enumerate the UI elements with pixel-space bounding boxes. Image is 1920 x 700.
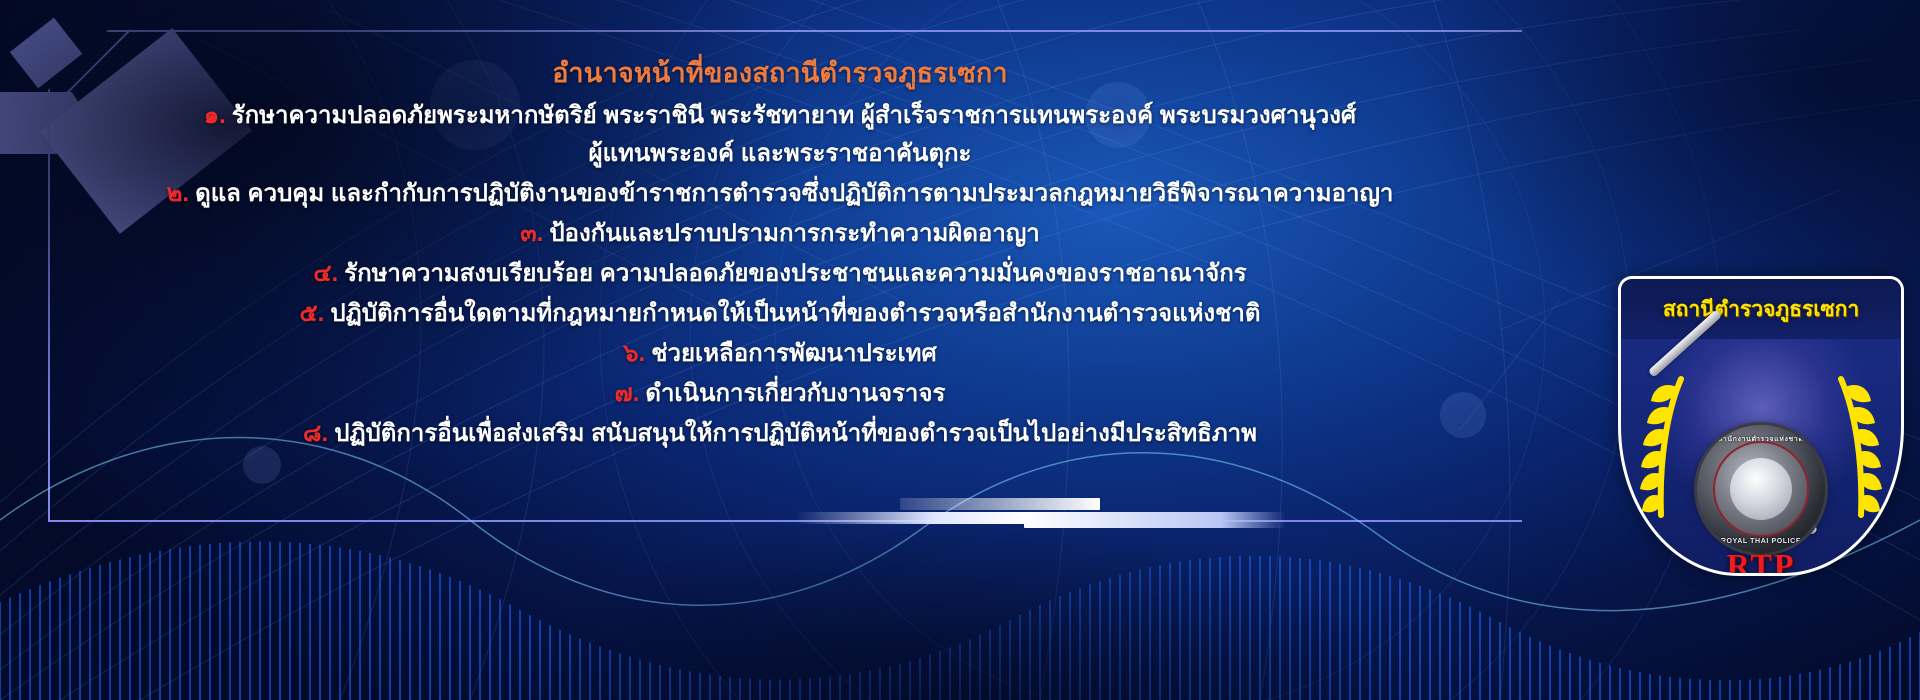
list-marker: ๕. — [300, 300, 325, 327]
list-item-text: ปฏิบัติการอื่นใดตามที่กฎหมายกำหนดให้เป็น… — [330, 300, 1260, 327]
duties-list: ๑.รักษาความปลอดภัยพระมหากษัตริย์ พระราชิ… — [0, 96, 1560, 454]
list-marker: ๘. — [303, 420, 328, 447]
seal-text-english: ROYAL THAI POLICE — [1697, 538, 1825, 545]
seal-emblem — [1730, 458, 1792, 520]
list-marker: ๗. — [615, 380, 640, 407]
list-item: ๑.รักษาความปลอดภัยพระมหากษัตริย์ พระราชิ… — [0, 96, 1560, 136]
content-area: อำนาจหน้าที่ของสถานีตำรวจภูธรเซกา ๑.รักษ… — [0, 0, 1560, 520]
list-item: ๒.ดูแล ควบคุม และกำกับการปฏิบัติงานของข้… — [0, 174, 1560, 214]
badge-acronym: RTP — [1621, 547, 1901, 576]
list-item: ๗.ดำเนินการเกี่ยวกับงานจราจร — [0, 374, 1560, 414]
badge-shield: สถานีตำรวจภูธรเซกา — [1618, 276, 1904, 576]
list-item: ๘.ปฏิบัติการอื่นเพื่อส่งเสริม สนับสนุนให… — [0, 414, 1560, 454]
list-marker: ๔. — [313, 260, 338, 287]
seal-ring — [1713, 441, 1809, 537]
list-marker: ๓. — [520, 220, 543, 247]
list-item-text: ป้องกันและปราบปรามการกระทำความผิดอาญา — [549, 220, 1039, 247]
list-item-text: ปฏิบัติการอื่นเพื่อส่งเสริม สนับสนุนให้ก… — [334, 420, 1257, 447]
badge-title-bar: สถานีตำรวจภูธรเซกา — [1621, 279, 1901, 339]
list-marker: ๒. — [167, 180, 190, 207]
list-item-continuation: ผู้แทนพระองค์ และพระราชอาคันตุกะ — [0, 134, 1560, 174]
list-item-text: ช่วยเหลือการพัฒนาประเทศ — [651, 340, 937, 367]
banner-stage: อำนาจหน้าที่ของสถานีตำรวจภูธรเซกา ๑.รักษ… — [0, 0, 1920, 700]
list-item-text: ดูแล ควบคุม และกำกับการปฏิบัติงานของข้าร… — [195, 180, 1393, 207]
list-item-text: รักษาความสงบเรียบร้อย ความปลอดภัยของประช… — [344, 260, 1246, 287]
royal-thai-police-seal-icon: สำนักงานตำรวจแห่งชาติ ROYAL THAI POLICE — [1697, 425, 1825, 553]
list-item: ๕.ปฏิบัติการอื่นใดตามที่กฎหมายกำหนดให้เป… — [0, 294, 1560, 334]
page-title: อำนาจหน้าที่ของสถานีตำรวจภูธรเซกา — [0, 56, 1560, 90]
list-item-text: ดำเนินการเกี่ยวกับงานจราจร — [645, 380, 945, 407]
laurel-wreath-icon — [1831, 371, 1885, 521]
list-item: ๖.ช่วยเหลือการพัฒนาประเทศ — [0, 334, 1560, 374]
list-item: ๓.ป้องกันและปราบปรามการกระทำความผิดอาญา — [0, 214, 1560, 254]
list-marker: ๖. — [623, 340, 645, 367]
police-station-badge: สถานีตำรวจภูธรเซกา — [1618, 276, 1904, 576]
list-marker: ๑. — [204, 102, 226, 129]
list-item-text: รักษาความปลอดภัยพระมหากษัตริย์ พระราชินี… — [232, 102, 1356, 129]
badge-station-name-thai: สถานีตำรวจภูธรเซกา — [1663, 293, 1859, 326]
list-item: ๔.รักษาความสงบเรียบร้อย ความปลอดภัยของปร… — [0, 254, 1560, 294]
laurel-wreath-icon — [1637, 371, 1691, 521]
